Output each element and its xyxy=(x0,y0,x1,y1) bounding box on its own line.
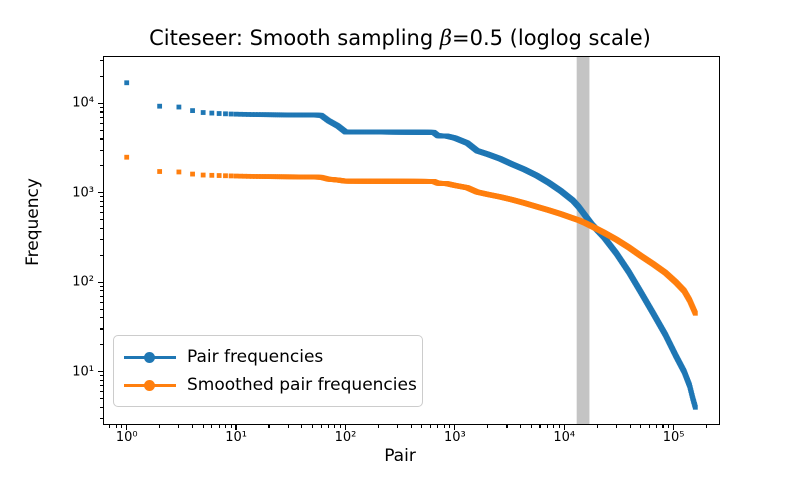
x-tick-mark-minor xyxy=(378,425,379,428)
x-tick-mark-minor xyxy=(328,425,329,428)
figure-canvas: Citeseer: Smooth sampling β=0.5 (loglog … xyxy=(0,0,800,480)
y-tick-mark-minor xyxy=(100,328,103,329)
x-tick-mark-minor xyxy=(706,425,707,428)
x-tick-mark-minor xyxy=(444,425,445,428)
y-tick-mark xyxy=(98,282,103,283)
legend-label-1: Smoothed pair frequencies xyxy=(187,375,417,395)
y-tick-mark-minor xyxy=(100,107,103,108)
y-tick-mark-minor xyxy=(100,201,103,202)
x-tick-mark-minor xyxy=(630,425,631,428)
x-tick-label: 10⁴ xyxy=(553,430,575,445)
x-tick-mark-minor xyxy=(121,425,122,428)
x-tick-mark-minor xyxy=(109,425,110,428)
x-tick-mark-minor xyxy=(520,425,521,428)
y-tick-mark-minor xyxy=(100,290,103,291)
y-tick-mark-minor xyxy=(100,196,103,197)
x-tick-mark-minor xyxy=(340,425,341,428)
y-tick-label: 10¹ xyxy=(48,364,94,379)
y-tick-mark-minor xyxy=(100,380,103,381)
x-tick-mark-minor xyxy=(531,425,532,428)
y-tick-mark-minor xyxy=(100,418,103,419)
y-tick-mark-minor xyxy=(100,150,103,151)
y-tick-label: 10² xyxy=(48,275,94,290)
x-tick-mark-minor xyxy=(656,425,657,428)
x-tick-mark-minor xyxy=(662,425,663,428)
x-tick-mark-minor xyxy=(430,425,431,428)
y-tick-mark-minor xyxy=(100,286,103,287)
x-tick-label: 10¹ xyxy=(225,430,247,445)
highlight-band-layer xyxy=(577,57,590,424)
y-tick-mark-minor xyxy=(100,123,103,124)
y-tick-mark-minor xyxy=(100,302,103,303)
y-tick-mark xyxy=(98,103,103,104)
chart-title-prefix: Citeseer: Smooth sampling xyxy=(149,26,440,50)
x-tick-mark-minor xyxy=(178,425,179,428)
x-tick-mark-minor xyxy=(506,425,507,428)
y-tick-mark-minor xyxy=(100,255,103,256)
legend-marker-icon-1 xyxy=(124,378,176,392)
y-tick-mark-minor xyxy=(100,407,103,408)
x-tick-mark-minor xyxy=(301,425,302,428)
x-tick-mark-minor xyxy=(547,425,548,428)
y-tick-mark-minor xyxy=(100,76,103,77)
highlight-band xyxy=(577,57,590,424)
legend-item-pair-frequencies: Pair frequencies xyxy=(124,342,323,372)
y-tick-mark-minor xyxy=(100,239,103,240)
x-tick-label: 10⁰ xyxy=(116,430,138,445)
x-tick-mark-minor xyxy=(487,425,488,428)
x-tick-mark-minor xyxy=(640,425,641,428)
y-axis-label: Frequency xyxy=(23,142,43,302)
x-tick-mark-minor xyxy=(334,425,335,428)
x-tick-mark-minor xyxy=(268,425,269,428)
series-1 xyxy=(124,155,697,316)
x-tick-label: 10⁵ xyxy=(663,430,685,445)
x-tick-mark-minor xyxy=(288,425,289,428)
legend-marker-icon-0 xyxy=(124,350,176,364)
y-tick-mark-minor xyxy=(100,344,103,345)
x-tick-mark-minor xyxy=(559,425,560,428)
y-tick-mark-minor xyxy=(100,228,103,229)
x-tick-mark-minor xyxy=(421,425,422,428)
y-tick-mark-minor xyxy=(100,111,103,112)
chart-title-beta-symbol: β xyxy=(440,26,452,50)
y-tick-mark-minor xyxy=(100,138,103,139)
chart-title: Citeseer: Smooth sampling β=0.5 (loglog … xyxy=(0,26,800,50)
x-tick-mark-minor xyxy=(539,425,540,428)
y-tick-mark-minor xyxy=(100,219,103,220)
y-tick-mark-minor xyxy=(100,117,103,118)
y-tick-mark xyxy=(98,192,103,193)
chart-title-suffix: =0.5 (loglog scale) xyxy=(452,26,651,50)
x-tick-mark-minor xyxy=(231,425,232,428)
x-axis-label: Pair xyxy=(0,446,800,466)
x-tick-mark-minor xyxy=(312,425,313,428)
y-tick-mark-minor xyxy=(100,130,103,131)
y-tick-mark-minor xyxy=(100,317,103,318)
y-tick-mark-minor xyxy=(100,60,103,61)
y-tick-mark-minor xyxy=(100,398,103,399)
legend-item-smoothed-pair-frequencies: Smoothed pair frequencies xyxy=(124,370,417,400)
y-tick-mark-minor xyxy=(100,391,103,392)
x-tick-mark-minor xyxy=(437,425,438,428)
x-tick-label: 10³ xyxy=(444,430,466,445)
x-tick-mark-minor xyxy=(219,425,220,428)
y-tick-mark-minor xyxy=(100,165,103,166)
x-tick-mark-minor xyxy=(616,425,617,428)
y-tick-label: 10³ xyxy=(48,185,94,200)
x-tick-mark-minor xyxy=(397,425,398,428)
x-tick-mark-minor xyxy=(203,425,204,428)
x-tick-mark-minor xyxy=(192,425,193,428)
x-tick-mark-minor xyxy=(411,425,412,428)
x-tick-mark-minor xyxy=(668,425,669,428)
y-tick-mark xyxy=(98,371,103,372)
x-tick-mark-minor xyxy=(321,425,322,428)
y-tick-mark-minor xyxy=(100,375,103,376)
x-tick-mark-minor xyxy=(649,425,650,428)
y-tick-mark-minor xyxy=(100,385,103,386)
y-tick-mark-minor xyxy=(100,212,103,213)
x-tick-mark-minor xyxy=(159,425,160,428)
y-tick-mark-minor xyxy=(100,309,103,310)
y-tick-label: 10⁴ xyxy=(48,96,94,111)
x-tick-mark-minor xyxy=(553,425,554,428)
legend-label-0: Pair frequencies xyxy=(187,347,323,367)
x-tick-mark-minor xyxy=(211,425,212,428)
x-tick-mark-minor xyxy=(225,425,226,428)
x-tick-mark-minor xyxy=(449,425,450,428)
chart-legend: Pair frequencies Smoothed pair frequenci… xyxy=(113,335,423,407)
y-tick-mark-minor xyxy=(100,296,103,297)
x-tick-mark-minor xyxy=(597,425,598,428)
x-tick-label: 10² xyxy=(335,430,357,445)
x-tick-mark-minor xyxy=(116,425,117,428)
y-tick-mark-minor xyxy=(100,206,103,207)
